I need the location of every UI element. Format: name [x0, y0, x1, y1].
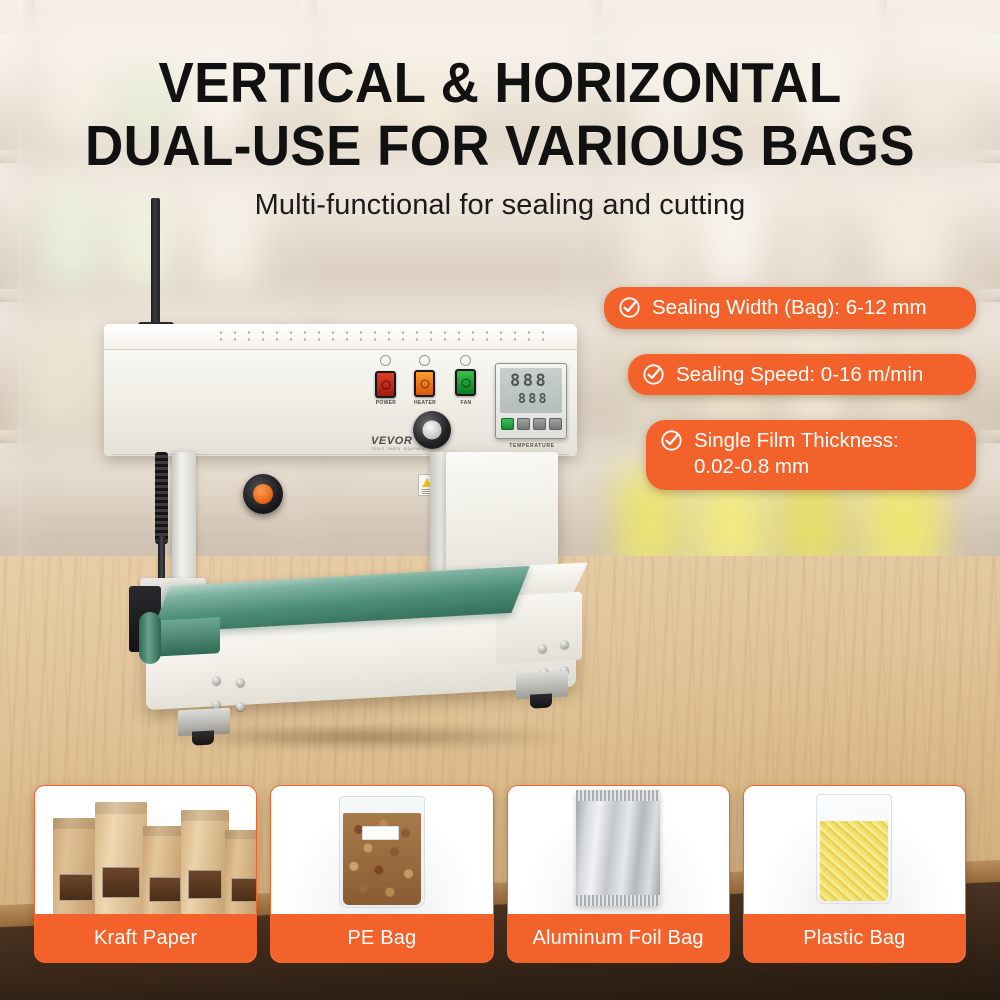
feature-badge-film-thickness: Single Film Thickness: 0.02-0.8 mm	[646, 420, 976, 489]
check-circle-icon	[660, 429, 683, 452]
controller-button-down[interactable]	[533, 418, 546, 430]
bag-top-fold	[53, 818, 99, 829]
pe-bag	[339, 796, 425, 908]
bag-top-fold	[181, 810, 229, 821]
display-value-top: 888	[510, 371, 548, 391]
temperature-controller[interactable]: 888 888	[495, 363, 567, 439]
kraft-bag	[225, 830, 256, 914]
screw	[236, 678, 245, 687]
controller-button-set[interactable]	[501, 418, 514, 430]
heater-switch[interactable]	[414, 370, 435, 397]
feature-badge-list: Sealing Width (Bag): 6-12 mm Sealing Spe…	[604, 287, 976, 515]
screw	[560, 640, 569, 649]
kraft-bag	[53, 818, 99, 914]
check-circle-icon	[642, 363, 665, 386]
card-label-aluminum-foil-bag: Aluminum Foil Bag	[508, 914, 729, 962]
ventilation-holes	[214, 329, 544, 344]
controller-screen: 888 888	[500, 368, 562, 413]
card-pe-bag[interactable]: PE Bag	[270, 785, 493, 963]
card-aluminum-foil-bag[interactable]: Aluminum Foil Bag	[507, 785, 730, 963]
card-plastic-bag[interactable]: Plastic Bag	[743, 785, 966, 963]
control-panel: POWER HEATER FAN VEVOR TOOLS . PARTS . E…	[367, 351, 572, 455]
bag-label-tag	[362, 826, 399, 840]
screw	[236, 702, 245, 711]
knob-center-cap	[253, 484, 273, 504]
fan-symbol-icon	[460, 355, 471, 366]
bag-contents-pasta	[820, 821, 888, 901]
pouch-bottom-crimp	[576, 895, 660, 906]
fan-switch-label: FAN	[449, 400, 483, 406]
machine-foot-right	[516, 671, 568, 700]
feature-badge-text-line-1: Single Film Thickness:	[694, 429, 899, 452]
headline-block: VERTICAL & HORIZONTAL DUAL-USE FOR VARIO…	[0, 56, 1000, 222]
plastic-bag	[816, 794, 892, 904]
feature-badge-sealing-width: Sealing Width (Bag): 6-12 mm	[604, 287, 976, 329]
card-kraft-paper[interactable]: Kraft Paper	[34, 785, 257, 963]
machine-shadow	[140, 724, 580, 750]
housing-top-panel	[104, 324, 577, 350]
card-label-kraft-paper: Kraft Paper	[35, 914, 256, 962]
card-image-aluminum-foil-bag	[508, 786, 729, 914]
vevor-logo: VEVOR	[371, 435, 413, 447]
power-switch[interactable]	[375, 371, 396, 398]
aluminum-foil-pouch	[576, 790, 660, 906]
card-label-pe-bag: PE Bag	[271, 914, 492, 962]
feature-badge-text: Sealing Width (Bag): 6-12 mm	[652, 294, 927, 321]
speed-knob[interactable]	[413, 411, 451, 449]
heater-switch-label: HEATER	[408, 400, 442, 406]
tension-spring	[155, 452, 168, 544]
headline-line-2: DUAL-USE FOR VARIOUS BAGS	[35, 119, 965, 173]
bag-top-fold	[95, 802, 147, 814]
card-label-plastic-bag: Plastic Bag	[744, 914, 965, 962]
kraft-bag	[181, 810, 229, 914]
bag-top-fold	[225, 830, 256, 839]
power-switch-label: POWER	[369, 400, 403, 406]
feature-badge-text-wrap: Single Film Thickness: 0.02-0.8 mm	[694, 427, 899, 479]
sealing-head-housing: POWER HEATER FAN VEVOR TOOLS . PARTS . E…	[104, 324, 577, 456]
bag-type-card-list: Kraft Paper PE Bag Aluminum Foil Bag	[34, 785, 966, 963]
controller-button-row	[501, 418, 562, 430]
feature-badge-sealing-speed: Sealing Speed: 0-16 m/min	[628, 354, 976, 396]
headline-line-1: VERTICAL & HORIZONTAL	[35, 56, 965, 110]
fan-switch[interactable]	[455, 369, 476, 396]
conveyor-roller	[139, 612, 161, 664]
feature-badge-text-line-2: 0.02-0.8 mm	[694, 455, 809, 478]
screw	[212, 676, 221, 685]
controller-button-left[interactable]	[517, 418, 530, 430]
feature-badge-text: Sealing Speed: 0-16 m/min	[676, 361, 923, 388]
heater-symbol-icon	[419, 355, 430, 366]
card-image-kraft-paper	[35, 786, 256, 914]
kraft-bag	[95, 802, 147, 914]
display-value-bottom: 888	[518, 392, 549, 407]
vevor-tagline: TOOLS . PARTS . EQUIPMENT	[371, 447, 427, 451]
screw	[538, 644, 547, 653]
headline-subtitle: Multi-functional for sealing and cutting	[0, 189, 1000, 222]
pouch-top-crimp	[576, 790, 660, 801]
height-adjust-knob[interactable]	[243, 474, 283, 514]
temperature-label: TEMPERATURE	[493, 443, 571, 449]
check-circle-icon	[618, 296, 641, 319]
card-image-plastic-bag	[744, 786, 965, 914]
power-symbol-icon	[380, 355, 391, 366]
left-support-column	[172, 452, 196, 584]
card-image-pe-bag	[271, 786, 492, 914]
controller-button-up[interactable]	[549, 418, 562, 430]
